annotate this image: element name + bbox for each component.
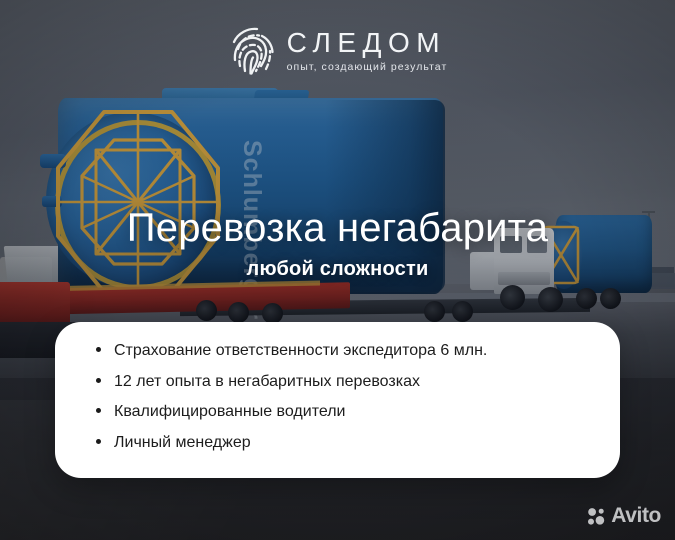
- hero-subheadline: любой сложности: [0, 258, 675, 281]
- bullet-icon: [96, 408, 101, 413]
- logo-tagline: опыт, создающий результат: [287, 61, 448, 73]
- brand-logo: СЛЕДОМ опыт, создающий результат: [0, 24, 675, 78]
- avito-watermark: Avito: [587, 504, 661, 528]
- bullet-icon: [96, 439, 101, 444]
- bullet-icon: [96, 347, 101, 352]
- features-list: Страхование ответственности экспедитора …: [83, 341, 592, 452]
- fingerprint-icon: [228, 24, 278, 78]
- features-card: Страхование ответственности экспедитора …: [55, 322, 620, 478]
- feature-text: 12 лет опыта в негабаритных перевозках: [114, 372, 420, 392]
- feature-item: Квалифицированные водители: [83, 402, 592, 422]
- logo-text-block: СЛЕДОМ опыт, создающий результат: [287, 29, 448, 73]
- hero-text-block: Перевозка негабарита любой сложности: [0, 207, 675, 281]
- feature-item: Страхование ответственности экспедитора …: [83, 341, 592, 361]
- feature-item: Личный менеджер: [83, 433, 592, 453]
- hero-headline: Перевозка негабарита: [0, 207, 675, 249]
- feature-text: Личный менеджер: [114, 433, 251, 453]
- bullet-icon: [96, 378, 101, 383]
- feature-text: Страхование ответственности экспедитора …: [114, 341, 487, 361]
- avito-label: Avito: [611, 504, 661, 528]
- logo-wordmark: СЛЕДОМ: [287, 29, 446, 58]
- avito-dots-icon: [587, 507, 606, 526]
- feature-text: Квалифицированные водители: [114, 402, 345, 422]
- avito-ad-banner: Schlumberger: [0, 0, 675, 540]
- feature-item: 12 лет опыта в негабаритных перевозках: [83, 372, 592, 392]
